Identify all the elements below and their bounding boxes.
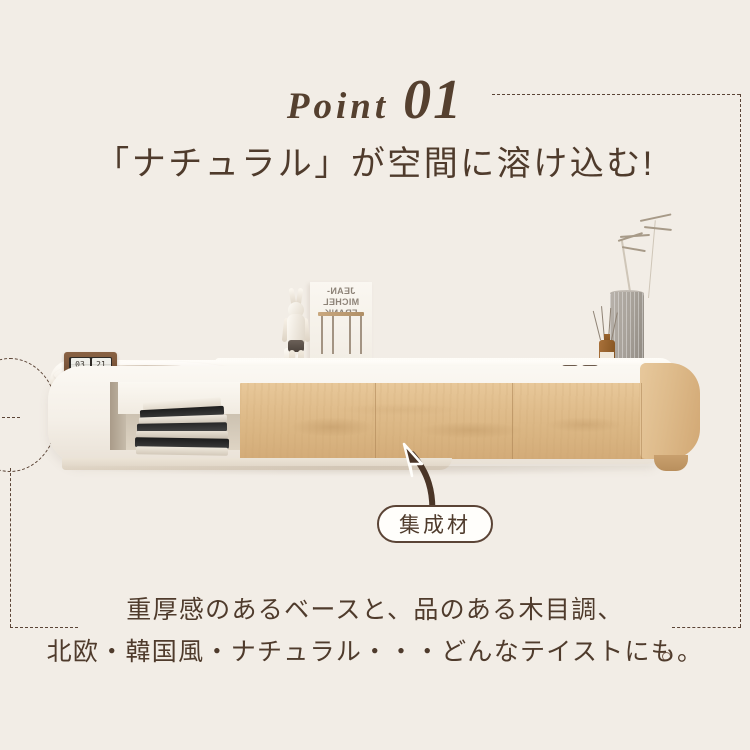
material-badge: 集成材 xyxy=(377,505,493,543)
illustration-table-top xyxy=(318,312,364,316)
illustration-leg xyxy=(360,316,362,354)
point-heading: Point01 xyxy=(0,68,750,132)
dried-flower-bloom xyxy=(620,234,650,238)
description-line-1: 重厚感のあるベースと、品のある木目調、 xyxy=(0,590,750,626)
drawer-seam xyxy=(512,383,513,459)
dried-flower-bloom xyxy=(622,246,646,252)
illustration-leg xyxy=(332,316,334,354)
illustration-leg xyxy=(349,316,351,354)
dashed-line-bottom-right xyxy=(672,627,741,628)
drawer-seam xyxy=(641,383,642,459)
diffuser-reed xyxy=(593,311,602,340)
description-line-2: 北欧・韓国風・ナチュラル・・・どんなテイストにも。 xyxy=(0,632,750,668)
page-title: 「ナチュラル」が空間に溶け込む! xyxy=(0,136,750,185)
ceramic-vase xyxy=(610,292,644,368)
dried-flower-bloom xyxy=(644,226,672,231)
illustration-leg xyxy=(321,316,323,354)
cabinet-right-round-end xyxy=(640,363,700,459)
book-stack-item xyxy=(136,446,228,456)
art-book-illustration xyxy=(318,312,364,354)
dried-flower-stem xyxy=(648,220,656,298)
point-number: 01 xyxy=(403,69,463,131)
dashed-line-bottom-left xyxy=(10,627,78,628)
product-banner: Point01 「ナチュラル」が空間に溶け込む! JEAN-MICHEL FRA… xyxy=(0,0,750,750)
bunny-figurine xyxy=(281,288,311,368)
point-label: Point xyxy=(287,86,389,127)
